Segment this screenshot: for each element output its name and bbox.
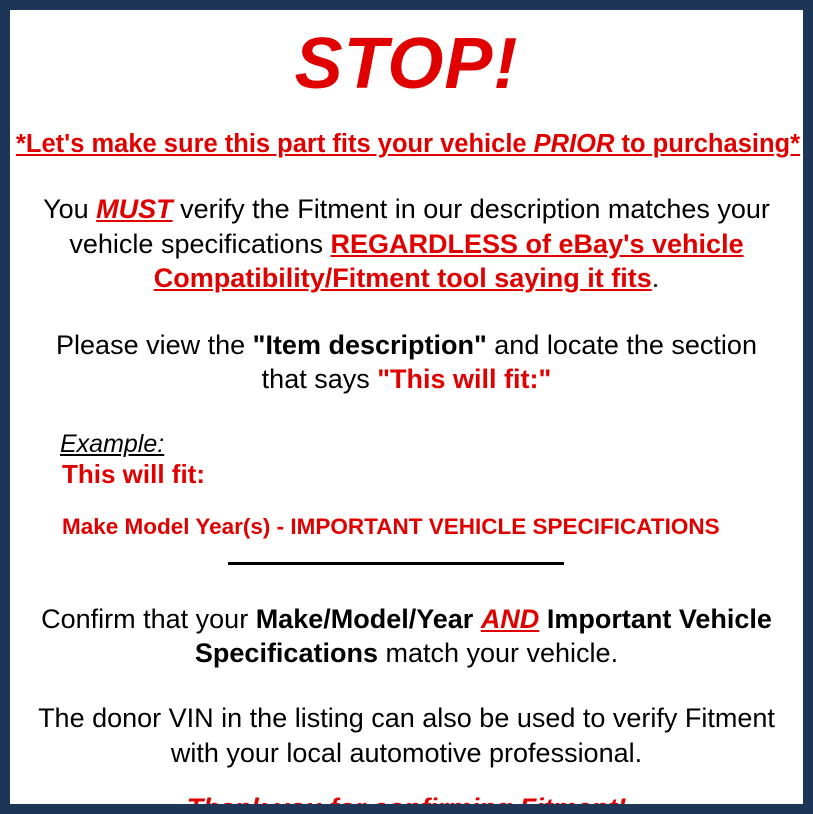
tagline-emphasis-prior: PRIOR — [534, 130, 615, 158]
example-label: Example: — [60, 431, 164, 459]
must-seg-1: You — [43, 194, 96, 224]
confirm-space-1 — [473, 604, 481, 634]
item-description-label: "Item description" — [253, 330, 487, 360]
tagline: *Let's make sure this part fits your veh… — [16, 130, 797, 158]
must-keyword: MUST — [96, 194, 173, 224]
closing-thank-you: Thank you for confirming Fitment! — [16, 792, 797, 814]
page-title: STOP! — [16, 28, 797, 100]
example-fit-heading: This will fit: — [60, 460, 797, 490]
item-description-paragraph: Please view the "Item description" and l… — [16, 328, 797, 397]
horizontal-divider — [228, 562, 564, 565]
fitment-notice-card: STOP! *Let's make sure this part fits yo… — [0, 0, 813, 814]
confirm-seg-1: Confirm that your — [41, 604, 256, 634]
must-seg-5: . — [652, 263, 660, 293]
notice-content-area: STOP! *Let's make sure this part fits yo… — [10, 28, 803, 814]
confirm-paragraph: Confirm that your Make/Model/Year AND Im… — [16, 602, 797, 671]
donor-vin-paragraph: The donor VIN in the listing can also be… — [16, 701, 797, 770]
and-keyword: AND — [481, 604, 540, 634]
example-spec-line: Make Model Year(s) - IMPORTANT VEHICLE S… — [60, 515, 797, 540]
confirm-seg-7: match your vehicle. — [378, 638, 618, 668]
tagline-suffix: to purchasing* — [614, 130, 800, 158]
must-verify-paragraph: You MUST verify the Fitment in our descr… — [16, 192, 797, 296]
confirm-space-2 — [539, 604, 547, 634]
example-block: Example: This will fit: Make Model Year(… — [16, 431, 797, 540]
tagline-underline-wrapper: *Let's make sure this part fits your veh… — [16, 130, 800, 158]
example-label-row: Example: — [60, 431, 797, 459]
this-will-fit-label: "This will fit:" — [377, 364, 551, 394]
divider-row — [16, 562, 797, 576]
view-seg-1: Please view the — [56, 330, 253, 360]
make-model-year-label: Make/Model/Year — [256, 604, 474, 634]
tagline-prefix: *Let's make sure this part fits your veh… — [16, 130, 534, 158]
